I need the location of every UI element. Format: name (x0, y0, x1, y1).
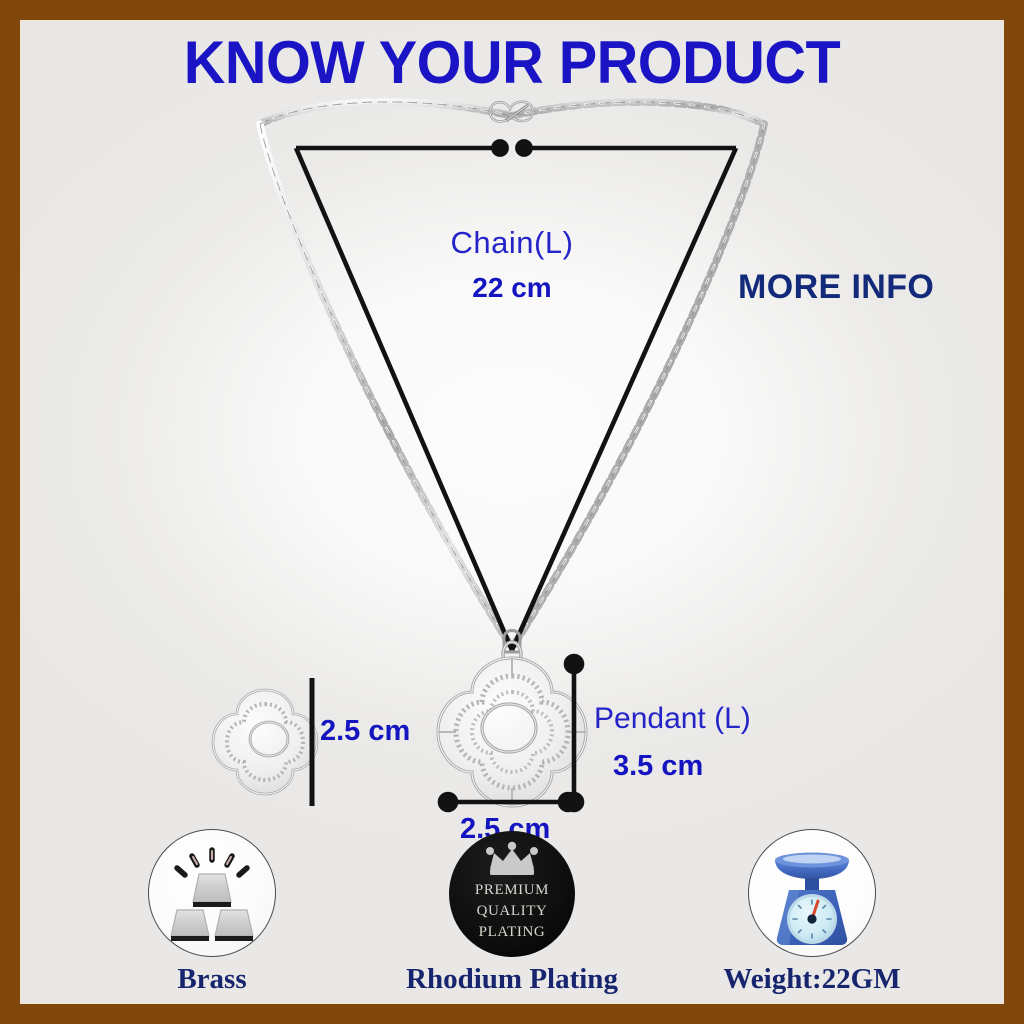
infographic-stage: KNOW YOUR PRODUCT (0, 0, 1024, 1024)
earring-quatrefoil (213, 690, 317, 794)
chain-clasp (490, 102, 533, 122)
feature-weight-caption: Weight:22GM (662, 963, 962, 996)
premium-quality-badge-icon: PREMIUM QUALITY PLATING (449, 831, 575, 957)
infographic-canvas: KNOW YOUR PRODUCT (20, 20, 1004, 1004)
badge-line-2: QUALITY (449, 904, 575, 919)
weighing-scale-icon (748, 829, 876, 957)
pendant-quatrefoil (438, 631, 586, 807)
feature-plating-caption: Rhodium Plating (362, 963, 662, 996)
more-info-label: MORE INFO (738, 268, 934, 307)
pendant-height-rule (566, 656, 582, 810)
earring-size-value: 2.5 cm (320, 715, 410, 748)
brass-ingots-icon (148, 829, 276, 957)
page-title: KNOW YOUR PRODUCT (40, 28, 985, 97)
pendant-length-value: 3.5 cm (613, 750, 703, 783)
feature-brass-caption: Brass (62, 963, 362, 996)
feature-brass: Brass (62, 829, 362, 996)
chain-length-label: Chain(L) (20, 225, 1004, 261)
pendant-length-label: Pendant (L) (594, 702, 751, 736)
badge-line-3: PLATING (449, 925, 575, 940)
pendant-width-rule (440, 794, 576, 810)
chain-length-measure (296, 141, 736, 650)
necklace-chain (252, 102, 764, 648)
feature-rhodium-plating: PREMIUM QUALITY PLATING Rhodium Plating (362, 831, 662, 996)
badge-line-1: PREMIUM (449, 883, 575, 898)
feature-weight: Weight:22GM (662, 829, 962, 996)
